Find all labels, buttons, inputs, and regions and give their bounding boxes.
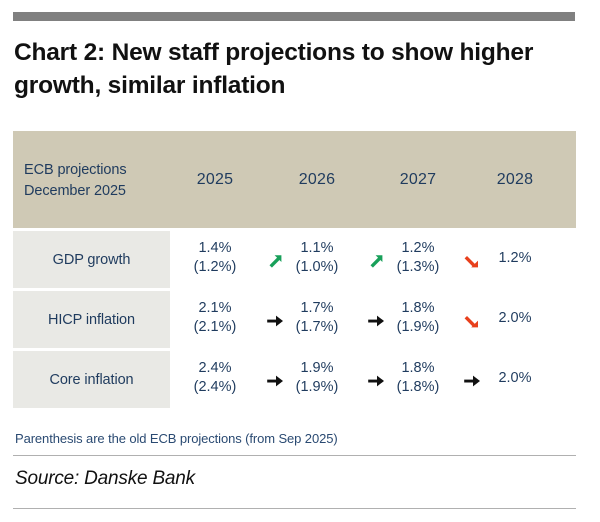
cell-gdp-2028: 1.2% bbox=[475, 249, 555, 268]
value-current: 1.2% bbox=[378, 239, 458, 258]
value-previous: (2.1%) bbox=[175, 318, 255, 337]
cell-hicp-2028: 2.0% bbox=[475, 309, 555, 328]
row-label-core-inflation: Core inflation bbox=[13, 351, 170, 408]
value-previous: (1.7%) bbox=[277, 318, 357, 337]
column-header-2026: 2026 bbox=[277, 171, 357, 189]
corner-label-line-2: December 2025 bbox=[24, 183, 126, 199]
source-label: Source: Danske Bank bbox=[15, 468, 195, 490]
top-rule-divider bbox=[13, 12, 575, 21]
value-current: 1.7% bbox=[277, 299, 357, 318]
cell-core-2025: 2.4% (2.4%) bbox=[175, 359, 255, 397]
value-current: 1.8% bbox=[378, 359, 458, 378]
cell-hicp-2026: 1.7% (1.7%) bbox=[277, 299, 357, 337]
cell-gdp-2025: 1.4% (1.2%) bbox=[175, 239, 255, 277]
value-current: 2.0% bbox=[475, 309, 555, 328]
value-current: 2.0% bbox=[475, 369, 555, 388]
value-current: 1.1% bbox=[277, 239, 357, 258]
value-current: 1.2% bbox=[475, 249, 555, 268]
cell-hicp-2027: 1.8% (1.9%) bbox=[378, 299, 458, 337]
column-header-2025: 2025 bbox=[175, 171, 255, 189]
row-label-hicp-inflation: HICP inflation bbox=[13, 291, 170, 348]
cell-gdp-2026: 1.1% (1.0%) bbox=[277, 239, 357, 277]
table-corner-label: ECB projections December 2025 bbox=[24, 160, 126, 201]
projections-table: ECB projections December 2025 2025 2026 … bbox=[13, 131, 576, 408]
value-previous: (1.8%) bbox=[378, 378, 458, 397]
value-current: 2.1% bbox=[175, 299, 255, 318]
value-previous: (1.0%) bbox=[277, 258, 357, 277]
value-previous: (1.2%) bbox=[175, 258, 255, 277]
cell-core-2026: 1.9% (1.9%) bbox=[277, 359, 357, 397]
corner-label-line-1: ECB projections bbox=[24, 162, 126, 178]
column-header-2027: 2027 bbox=[378, 171, 458, 189]
chart-page: Chart 2: New staff projections to show h… bbox=[0, 0, 600, 522]
table-row: GDP growth 1.4% (1.2%) 1.1% (1.0%) 1.2% … bbox=[13, 231, 576, 288]
page-title: Chart 2: New staff projections to show h… bbox=[14, 36, 574, 103]
value-previous: (2.4%) bbox=[175, 378, 255, 397]
table-row: HICP inflation 2.1% (2.1%) 1.7% (1.7%) 1… bbox=[13, 291, 576, 348]
value-previous: (1.9%) bbox=[378, 318, 458, 337]
table-header-row: ECB projections December 2025 2025 2026 … bbox=[13, 131, 576, 228]
value-current: 1.4% bbox=[175, 239, 255, 258]
value-current: 1.8% bbox=[378, 299, 458, 318]
source-divider-bottom bbox=[13, 508, 576, 509]
row-label-gdp-growth: GDP growth bbox=[13, 231, 170, 288]
cell-hicp-2025: 2.1% (2.1%) bbox=[175, 299, 255, 337]
value-previous: (1.9%) bbox=[277, 378, 357, 397]
table-footnote: Parenthesis are the old ECB projections … bbox=[15, 431, 338, 446]
table-row: Core inflation 2.4% (2.4%) 1.9% (1.9%) 1… bbox=[13, 351, 576, 408]
cell-core-2028: 2.0% bbox=[475, 369, 555, 388]
cell-core-2027: 1.8% (1.8%) bbox=[378, 359, 458, 397]
value-current: 2.4% bbox=[175, 359, 255, 378]
column-header-2028: 2028 bbox=[475, 171, 555, 189]
value-current: 1.9% bbox=[277, 359, 357, 378]
value-previous: (1.3%) bbox=[378, 258, 458, 277]
source-divider-top bbox=[13, 455, 576, 456]
cell-gdp-2027: 1.2% (1.3%) bbox=[378, 239, 458, 277]
